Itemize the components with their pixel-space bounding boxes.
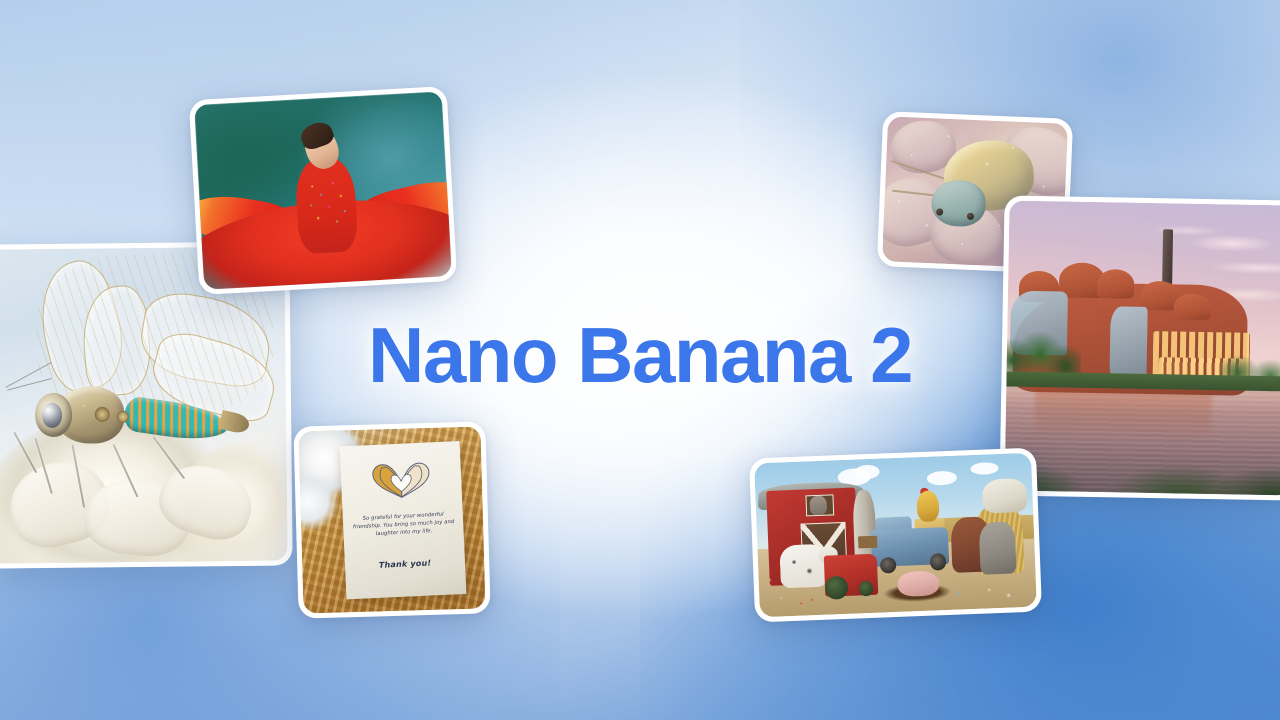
greeting-card-paper: So grateful for your wonderful friendshi… [339,441,466,599]
claymation-farm-image [754,453,1037,618]
greeting-card-signoff: Thank you! [345,557,465,571]
page-title: Nano Banana 2 [0,316,1280,394]
jeweled-dragonfly-image [0,246,288,563]
folk-dancer-image [194,91,452,290]
card-folk-dancer[interactable] [189,86,457,295]
card-thank-you[interactable]: So grateful for your wonderful friendshi… [293,421,490,618]
thank-you-card-image: So grateful for your wonderful friendshi… [298,426,485,613]
hands-heart-icon [357,452,446,508]
hero-stage: So grateful for your wonderful friendshi… [0,0,1280,720]
greeting-card-message: So grateful for your wonderful friendshi… [350,511,458,540]
card-claymation-farm[interactable] [749,448,1042,623]
